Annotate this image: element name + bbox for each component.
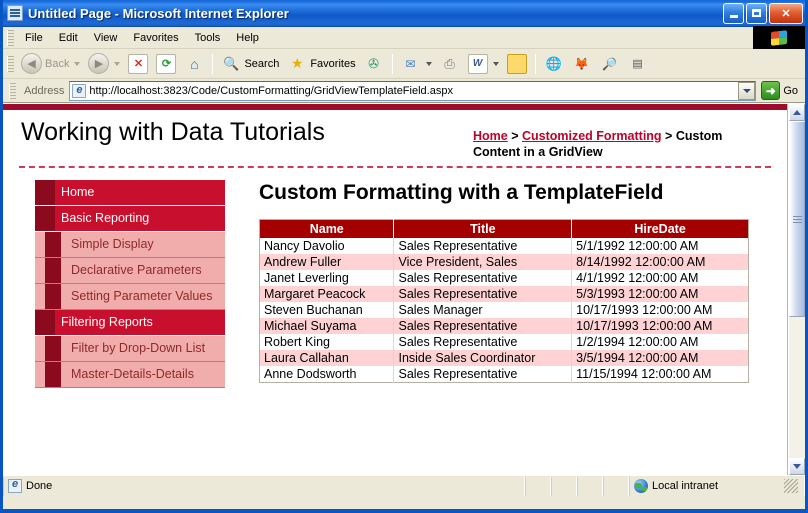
mail-dropdown-icon[interactable] <box>426 62 432 66</box>
media-button[interactable]: ✇ <box>360 52 388 76</box>
security-zone-text: Local intranet <box>652 480 718 492</box>
forward-arrow-icon: ▶ <box>88 53 109 74</box>
edit-dropdown-icon[interactable] <box>493 62 499 66</box>
favorites-star-icon: ★ <box>287 54 307 74</box>
cell-hiredate: 4/1/1992 12:00:00 AM <box>572 270 749 286</box>
notes-button[interactable] <box>503 52 531 76</box>
sidebar-item-filtering-reports[interactable]: Filtering Reports <box>35 310 225 336</box>
cell-name: Michael Suyama <box>260 318 394 334</box>
table-row: Laura CallahanInside Sales Coordinator3/… <box>260 350 749 366</box>
chevron-down-icon <box>743 89 751 93</box>
table-row: Nancy DavolioSales Representative5/1/199… <box>260 238 749 254</box>
back-dropdown-icon[interactable] <box>74 62 80 66</box>
table-row: Andrew FullerVice President, Sales8/14/1… <box>260 254 749 270</box>
status-pane-2 <box>551 477 577 496</box>
page-vertical-scrollbar[interactable] <box>788 104 805 475</box>
cell-title: Vice President, Sales <box>394 254 572 270</box>
site-title: Working with Data Tutorials <box>17 118 325 147</box>
ie-brand-logo <box>753 26 805 49</box>
cell-name: Laura Callahan <box>260 350 394 366</box>
chevron-up-icon <box>793 110 801 115</box>
fox-icon: 🦊 <box>572 54 592 74</box>
maximize-icon <box>752 9 761 17</box>
column-header-title[interactable]: Title <box>394 220 572 239</box>
sidebar-item-filter-by-drop-down-list[interactable]: Filter by Drop-Down List <box>35 336 225 362</box>
cell-title: Inside Sales Coordinator <box>394 350 572 366</box>
minimize-icon <box>730 15 738 18</box>
status-pane-4 <box>603 477 629 496</box>
scroll-track[interactable] <box>789 121 805 458</box>
cell-name: Margaret Peacock <box>260 286 394 302</box>
web-page-content: Working with Data Tutorials Home > Custo… <box>3 104 788 475</box>
sidebar-nav: Home Basic Reporting Simple Display Decl… <box>17 180 225 388</box>
go-label: Go <box>783 85 798 97</box>
print-button[interactable]: ⎙ <box>436 52 464 76</box>
mail-icon: ✉ <box>401 54 421 74</box>
notes-icon <box>507 54 527 74</box>
favorites-label: Favorites <box>310 58 355 70</box>
cell-hiredate: 3/5/1994 12:00:00 AM <box>572 350 749 366</box>
close-icon: ✕ <box>781 7 790 20</box>
cell-hiredate: 11/15/1994 12:00:00 AM <box>572 366 749 383</box>
status-text: Done <box>26 480 52 492</box>
menu-favorites[interactable]: Favorites <box>125 29 186 47</box>
refresh-button[interactable]: ⟳ <box>152 52 180 76</box>
scroll-thumb[interactable] <box>789 121 805 317</box>
minimize-button[interactable] <box>723 3 744 24</box>
address-label: Address <box>19 85 69 97</box>
research-button[interactable]: 🔎 <box>596 52 624 76</box>
intranet-globe-icon <box>634 479 648 493</box>
forward-button[interactable]: ▶ <box>84 51 124 76</box>
search-label: Search <box>244 58 279 70</box>
scroll-down-button[interactable] <box>789 458 805 475</box>
toolbar-separator-1 <box>212 54 213 74</box>
status-bar: Done Local intranet <box>3 475 805 496</box>
status-message-pane: Done <box>3 477 525 496</box>
status-pane-3 <box>577 477 603 496</box>
breadcrumb-separator-2: > <box>662 129 676 143</box>
search-icon: 🔍 <box>221 54 241 74</box>
cell-hiredate: 8/14/1992 12:00:00 AM <box>572 254 749 270</box>
page-favicon-icon <box>72 84 86 98</box>
home-icon: ⌂ <box>184 54 204 74</box>
windows-flag-icon <box>771 30 787 46</box>
research-icon: 🔎 <box>600 54 620 74</box>
forward-dropdown-icon[interactable] <box>114 62 120 66</box>
sidebar-item-declarative-parameters[interactable]: Declarative Parameters <box>35 258 225 284</box>
ie-browser-window: Untitled Page - Microsoft Internet Explo… <box>0 0 808 513</box>
page-title: Custom Formatting with a TemplateField <box>259 180 765 205</box>
menu-file[interactable]: File <box>17 29 51 47</box>
back-button[interactable]: ◀ Back <box>17 51 84 76</box>
address-url-text: http://localhost:3823/Code/CustomFormatt… <box>89 85 736 97</box>
cell-hiredate: 5/3/1993 12:00:00 AM <box>572 286 749 302</box>
cell-title: Sales Representative <box>394 366 572 383</box>
globe-button[interactable]: 🌐 <box>540 52 568 76</box>
cell-name: Robert King <box>260 334 394 350</box>
maximize-button[interactable] <box>746 3 767 24</box>
page-body: Home Basic Reporting Simple Display Decl… <box>17 168 773 388</box>
mail-button[interactable]: ✉ <box>397 52 436 76</box>
chevron-down-icon <box>793 464 801 469</box>
table-row: Anne DodsworthSales Representative11/15/… <box>260 366 749 383</box>
search-button[interactable]: 🔍 Search <box>217 52 283 76</box>
fox-button[interactable]: 🦊 <box>568 52 596 76</box>
menu-grip-handle[interactable] <box>7 30 14 46</box>
edit-word-icon: W <box>468 54 488 74</box>
cell-title: Sales Representative <box>394 238 572 254</box>
breadcrumb-link-section[interactable]: Customized Formatting <box>522 129 662 143</box>
go-button[interactable]: ➜ Go <box>756 81 803 100</box>
cell-hiredate: 10/17/1993 12:00:00 AM <box>572 302 749 318</box>
address-dropdown-button[interactable] <box>738 82 755 100</box>
messenger-icon: ▤ <box>628 54 648 74</box>
cell-hiredate: 5/1/1992 12:00:00 AM <box>572 238 749 254</box>
cell-title: Sales Representative <box>394 286 572 302</box>
cell-title: Sales Manager <box>394 302 572 318</box>
status-page-icon <box>8 479 22 493</box>
toolbar-grip-handle[interactable] <box>7 56 14 72</box>
menu-help[interactable]: Help <box>228 29 267 47</box>
refresh-icon: ⟳ <box>156 54 176 74</box>
sidebar-item-master-details-details[interactable]: Master-Details-Details <box>35 362 225 388</box>
cell-title: Sales Representative <box>394 270 572 286</box>
table-row: Margaret PeacockSales Representative5/3/… <box>260 286 749 302</box>
window-controls: ✕ <box>723 3 803 24</box>
window-title: Untitled Page - Microsoft Internet Explo… <box>28 6 723 21</box>
close-button[interactable]: ✕ <box>769 3 803 24</box>
table-body: Nancy DavolioSales Representative5/1/199… <box>260 238 749 383</box>
employees-gridview: Name Title HireDate Nancy DavolioSales R… <box>259 219 749 383</box>
edit-button[interactable]: W <box>464 52 503 76</box>
column-header-name[interactable]: Name <box>260 220 394 239</box>
page-header: Working with Data Tutorials Home > Custo… <box>17 110 773 166</box>
cell-name: Anne Dodsworth <box>260 366 394 383</box>
globe-icon: 🌐 <box>544 54 564 74</box>
window-page-icon <box>7 5 23 21</box>
table-row: Steven BuchananSales Manager10/17/1993 1… <box>260 302 749 318</box>
menu-bar: File Edit View Favorites Tools Help <box>3 27 805 49</box>
print-icon: ⎙ <box>440 54 460 74</box>
address-grip-handle[interactable] <box>9 83 16 99</box>
stop-icon: ✕ <box>128 54 148 74</box>
menu-tools[interactable]: Tools <box>187 29 229 47</box>
cell-name: Steven Buchanan <box>260 302 394 318</box>
home-button[interactable]: ⌂ <box>180 52 208 76</box>
thumb-grip-icon <box>793 216 802 223</box>
security-zone-pane[interactable]: Local intranet <box>629 477 805 496</box>
main-content: Custom Formatting with a TemplateField N… <box>225 180 773 388</box>
back-arrow-icon: ◀ <box>21 53 42 74</box>
sidebar-item-simple-display[interactable]: Simple Display <box>35 232 225 258</box>
breadcrumb-separator-1: > <box>508 129 522 143</box>
sidebar-item-home[interactable]: Home <box>35 180 225 206</box>
cell-title: Sales Representative <box>394 334 572 350</box>
back-label: Back <box>45 58 69 70</box>
address-bar: Address http://localhost:3823/Code/Custo… <box>3 79 805 103</box>
page-viewport: Working with Data Tutorials Home > Custo… <box>3 103 805 475</box>
favorites-button[interactable]: ★ Favorites <box>283 52 359 76</box>
cell-hiredate: 1/2/1994 12:00:00 AM <box>572 334 749 350</box>
sidebar-item-setting-parameter-values[interactable]: Setting Parameter Values <box>35 284 225 310</box>
go-arrow-icon: ➜ <box>761 81 780 100</box>
stop-button[interactable]: ✕ <box>124 52 152 76</box>
cell-title: Sales Representative <box>394 318 572 334</box>
status-pane-1 <box>525 477 551 496</box>
breadcrumb-link-home[interactable]: Home <box>473 129 508 143</box>
table-header-row: Name Title HireDate <box>260 220 749 239</box>
menu-edit[interactable]: Edit <box>51 29 86 47</box>
messenger-button[interactable]: ▤ <box>624 52 652 76</box>
column-header-hiredate[interactable]: HireDate <box>572 220 749 239</box>
sidebar-item-basic-reporting[interactable]: Basic Reporting <box>35 206 225 232</box>
table-row: Janet LeverlingSales Representative4/1/1… <box>260 270 749 286</box>
cell-hiredate: 10/17/1993 12:00:00 AM <box>572 318 749 334</box>
table-row: Robert KingSales Representative1/2/1994 … <box>260 334 749 350</box>
cell-name: Janet Leverling <box>260 270 394 286</box>
cell-name: Nancy Davolio <box>260 238 394 254</box>
media-icon: ✇ <box>364 54 384 74</box>
table-row: Michael SuyamaSales Representative10/17/… <box>260 318 749 334</box>
breadcrumb: Home > Customized Formatting > Custom Co… <box>473 118 773 160</box>
scroll-up-button[interactable] <box>789 104 805 121</box>
menu-view[interactable]: View <box>86 29 126 47</box>
cell-name: Andrew Fuller <box>260 254 394 270</box>
address-input[interactable]: http://localhost:3823/Code/CustomFormatt… <box>69 81 756 101</box>
toolbar-separator-2 <box>392 54 393 74</box>
title-bar: Untitled Page - Microsoft Internet Explo… <box>3 0 805 27</box>
toolbar-separator-3 <box>535 54 536 74</box>
window-resize-grip[interactable] <box>784 479 798 493</box>
navigation-toolbar: ◀ Back ▶ ✕ ⟳ ⌂ 🔍 Search ★ Favorites ✇ <box>3 49 805 79</box>
